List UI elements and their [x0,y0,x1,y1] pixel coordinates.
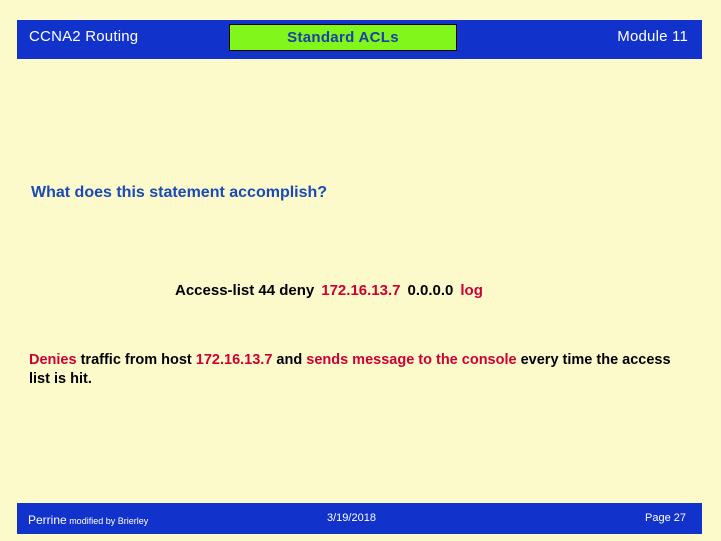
footer-attribution: Perrine modified by Brierley [28,511,148,529]
header-bar: CCNA2 Routing Standard ACLs Module 11 [17,20,702,59]
explanation-traffic-from-host: traffic from host [77,352,196,368]
acl-wildcard-mask: 0.0.0.0 [408,282,454,299]
module-label: Module 11 [617,28,688,45]
footer-bar: Perrine modified by Brierley 3/19/2018 P… [17,503,702,534]
acl-host-address: 172.16.13.7 [321,282,400,299]
topic-badge-label: Standard ACLs [287,29,399,46]
acl-command: Access-list 44 deny [175,282,314,299]
footer-author-name: Perrine [28,513,67,527]
acl-log-keyword: log [460,282,483,299]
acl-statement: Access-list 44 deny172.16.13.70.0.0.0log [175,282,483,299]
course-title: CCNA2 Routing [29,28,138,45]
footer-date: 3/19/2018 [327,512,376,524]
explanation-text: Denies traffic from host 172.16.13.7 and… [29,351,695,389]
footer-modifier-name: modified by Brierley [67,516,149,526]
topic-badge: Standard ACLs [229,24,457,51]
footer-page-number: Page 27 [645,512,686,524]
explanation-denies: Denies [29,352,77,368]
explanation-host-address: 172.16.13.7 [196,352,273,368]
explanation-sends-message: sends message to the console [306,352,516,368]
explanation-and: and [272,352,306,368]
slide-canvas: CCNA2 Routing Standard ACLs Module 11 Wh… [0,0,721,541]
question-heading: What does this statement accomplish? [31,184,327,202]
